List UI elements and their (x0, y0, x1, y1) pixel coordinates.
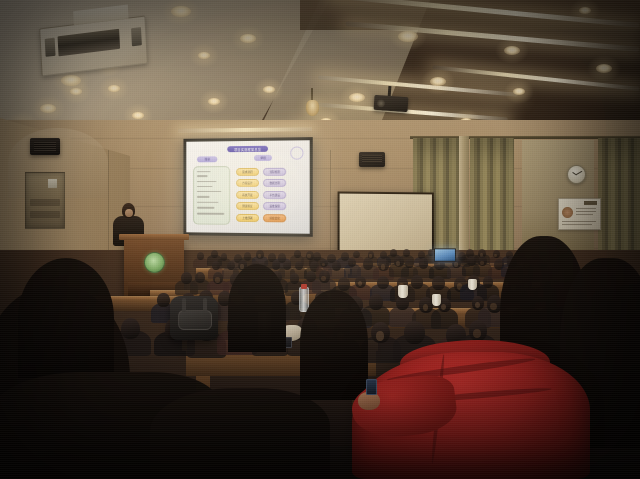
audience-head (157, 293, 169, 307)
audience-head (404, 321, 425, 344)
audience-head (355, 276, 366, 288)
paper-cup (398, 285, 408, 298)
audience-face-highlight (215, 277, 220, 282)
ceiling-downlight (504, 46, 520, 55)
slide-left-pill-column: 需求调研方案设计系统开发测试验证上线部署 (186, 140, 309, 141)
slide-title-text: 项目实施框架总览 (227, 145, 268, 152)
audience-head (483, 276, 494, 288)
audience-head (244, 252, 252, 261)
ceiling-downlight (108, 85, 120, 92)
projection-screen: 项目实施框架总览 现状 举措 需求调研方案设计系统开发测试验证上线部署 流程梳 (186, 140, 309, 234)
wall-notice-poster (558, 198, 601, 230)
pendant-lamp (306, 100, 319, 116)
audience-face-highlight (475, 302, 480, 308)
audience-head (411, 275, 423, 289)
laptop-screen (434, 248, 456, 261)
audience-head (121, 318, 140, 340)
ceiling-downlight (398, 31, 418, 42)
wall-control-panel[interactable] (25, 172, 65, 229)
slide-item-label: 需求调研 (237, 169, 258, 175)
audience-head (419, 258, 429, 269)
audience-head (369, 294, 383, 309)
ceiling-downlight (513, 88, 525, 95)
audience-head (377, 276, 389, 289)
audience-face-highlight (258, 254, 261, 258)
slide-item-pill: 方案设计 (236, 179, 259, 187)
audience-head (338, 277, 351, 291)
backpack (170, 296, 218, 340)
audience-head (195, 272, 205, 283)
audience-head (283, 261, 291, 270)
lectern-top-surface (119, 234, 189, 240)
slide-column-header-right-text: 举措 (254, 155, 271, 161)
audience-face-highlight (322, 263, 325, 267)
paper-cup (432, 294, 441, 306)
audience-head (493, 250, 500, 258)
foreground-person-silhouette (18, 258, 114, 378)
window-curtain (598, 138, 640, 258)
audience-head (294, 250, 301, 257)
audience-face-highlight (358, 281, 362, 286)
audience-face-highlight (381, 264, 385, 269)
slide-logo-icon (290, 146, 303, 159)
open-laptop[interactable] (434, 248, 454, 259)
wall-speaker-right-icon (359, 152, 385, 167)
slide-item-label: 流程梳理 (264, 168, 285, 174)
slide-item-pill: 持续优化 (263, 214, 286, 222)
audience-head (295, 261, 303, 270)
slide-item-pill: 运维保障 (263, 203, 286, 211)
audience-face-highlight (473, 329, 481, 338)
bottle-cap (301, 284, 307, 289)
audience-face-highlight (494, 254, 497, 258)
audience-head (256, 250, 264, 258)
ceiling-downlight (208, 98, 220, 105)
slide-item-pill: 测试验证 (236, 202, 259, 210)
projector-lens (377, 99, 386, 108)
ceiling-downlight (70, 88, 82, 95)
wall-speaker-left-icon (30, 138, 60, 155)
slide-column-header-left: 现状 (197, 156, 218, 162)
audience-head (211, 250, 218, 258)
audience-face-highlight (441, 304, 446, 310)
whiteboard-frame (338, 191, 434, 254)
smartphone-in-hand[interactable] (366, 379, 377, 395)
slide-item-pill: 流程梳理 (263, 167, 286, 175)
foreground-person-silhouette (150, 388, 330, 479)
ac-grille (58, 29, 121, 57)
foreground-person-silhouette (300, 290, 368, 400)
slide-item-pill: 数据治理 (263, 179, 286, 187)
audience-head (197, 252, 204, 260)
audience-head (353, 251, 360, 259)
audience-face-highlight (490, 303, 497, 311)
projection-screen-frame: 项目实施框架总览 现状 举措 需求调研方案设计系统开发测试验证上线部署 流程梳 (183, 137, 312, 237)
audience-head (221, 253, 228, 261)
ceiling-projector (374, 95, 409, 112)
ceiling-downlight (132, 112, 144, 119)
poster-image (562, 207, 573, 218)
audience-head (394, 256, 404, 267)
slide-item-pill: 需求调研 (236, 168, 259, 176)
audience-face-highlight (396, 261, 400, 266)
audience-head (405, 259, 413, 268)
control-panel-badge (48, 179, 57, 188)
slide-item-label: 测试验证 (237, 203, 258, 209)
slide-item-label: 系统开发 (237, 192, 258, 198)
audience-face-highlight (423, 304, 429, 311)
ceiling-downlight (430, 77, 446, 86)
audience-face-highlight (369, 254, 372, 257)
slide-column-header-right: 举措 (254, 155, 271, 161)
wall-clock (567, 165, 586, 184)
whiteboard-surface (340, 194, 432, 253)
slide-left-text-panel (193, 166, 230, 225)
audience-head (403, 249, 410, 257)
audience-head (319, 270, 330, 283)
slide-title-bar: 项目实施框架总览 (227, 145, 268, 152)
slide-item-label: 数据治理 (264, 180, 285, 186)
audience-head (332, 261, 341, 271)
wall-pillar (459, 136, 469, 260)
audience-head (469, 320, 488, 341)
ceiling-downlight (579, 7, 591, 14)
ceiling-downlight (349, 93, 365, 102)
audience-head (290, 273, 299, 284)
slide-right-pill-column: 流程梳理数据治理平台建设运维保障持续优化 (186, 140, 309, 141)
ceiling-downlight (40, 104, 56, 113)
audience-face-highlight (321, 276, 326, 282)
slide-item-pill: 上线部署 (236, 214, 259, 222)
poster-header-block (584, 201, 597, 205)
window-curtain (470, 138, 514, 262)
lecture-hall-photo: 项目实施框架总览 现状 举措 需求调研方案设计系统开发测试验证上线部署 流程梳 (0, 0, 640, 479)
slide-item-label: 上线部署 (237, 215, 258, 221)
foreground-person-silhouette (228, 264, 286, 352)
ceiling-downlight (198, 52, 210, 59)
paper-cup (468, 279, 477, 290)
audience-head (348, 258, 356, 267)
slide-item-pill: 系统开发 (236, 191, 259, 199)
slide-item-label: 平台建设 (264, 192, 285, 198)
ceiling-downlight (263, 86, 275, 93)
slide-item-pill: 平台建设 (263, 191, 286, 199)
backpack-front-pocket (178, 310, 212, 330)
audience-head (378, 259, 388, 271)
slide-item-label: 方案设计 (237, 180, 258, 186)
presenter-face (125, 209, 133, 217)
ceiling-downlight (240, 34, 256, 43)
university-crest-icon (144, 252, 165, 273)
audience-head (432, 276, 444, 290)
slide-item-label: 持续优化 (264, 215, 285, 221)
audience-face-highlight (376, 331, 384, 341)
ceiling-downlight (596, 64, 612, 73)
ceiling-downlight (171, 6, 191, 17)
audience-face-highlight (480, 261, 484, 266)
ac-vent-left (45, 38, 56, 57)
audience-head (212, 261, 220, 269)
ac-vent-right (131, 27, 142, 46)
audience-face-highlight (454, 262, 458, 266)
slide-item-label: 运维保障 (264, 204, 285, 210)
slide-column-header-left-text: 现状 (197, 156, 218, 162)
